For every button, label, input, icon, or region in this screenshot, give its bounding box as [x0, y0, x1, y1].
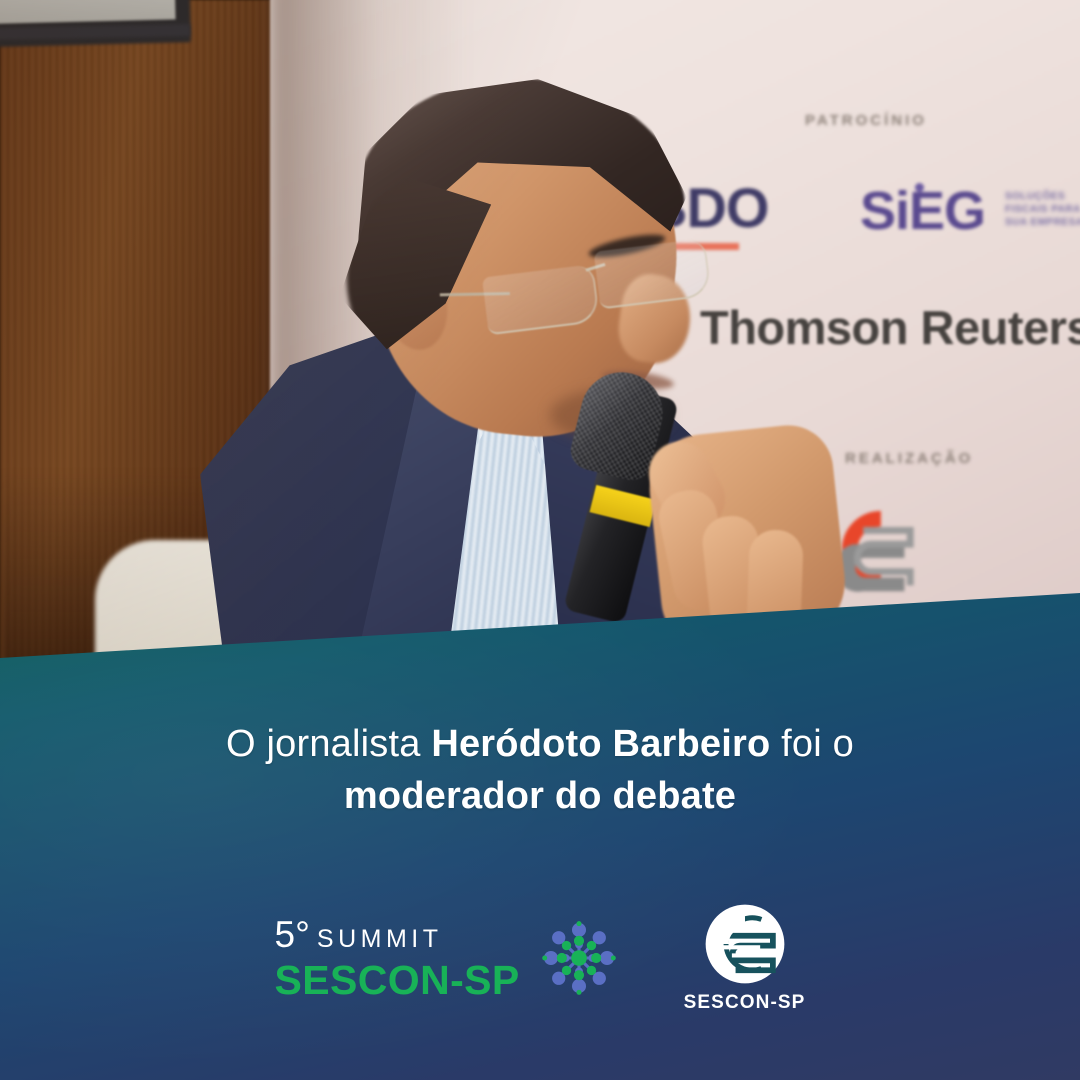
speaker-figure — [150, 60, 830, 680]
sieg-tagline: SOLUÇÕES FISCAIS PARA SUA EMPRESA — [1005, 190, 1080, 229]
summit-ordinal: 5° — [275, 916, 310, 953]
caption-line-1: O jornalista Heródoto Barbeiro foi o — [0, 718, 1080, 770]
summit-word: SUMMIT — [317, 927, 443, 952]
glasses-lens-left — [482, 264, 600, 335]
summit-event-logo[interactable]: 5° SUMMIT SESCON-SP — [275, 916, 622, 1001]
summit-org-name: SESCON-SP — [275, 960, 520, 1001]
summit-line-1: 5° SUMMIT — [275, 916, 443, 953]
sescon-s-monogram-icon — [704, 903, 786, 985]
molecule-network-icon — [536, 919, 622, 997]
sescon-sp-logo[interactable]: SESCON-SP — [684, 903, 806, 1014]
summit-wordmark: 5° SUMMIT SESCON-SP — [275, 916, 520, 1001]
sescon-sp-label: SESCON-SP — [684, 992, 806, 1014]
logo-lockup-row: 5° SUMMIT SESCON-SP — [0, 898, 1080, 1018]
caption-suffix: foi o — [770, 723, 854, 765]
caption-block: O jornalista Heródoto Barbeiro foi o mod… — [0, 718, 1080, 822]
sieg-dot-icon — [915, 183, 924, 192]
sponsor-logo-sieg: SiEG — [860, 184, 985, 238]
caption-role: moderador do debate — [344, 775, 736, 817]
caption-line-2: moderador do debate — [0, 770, 1080, 822]
sieg-wordmark: SiEG — [860, 184, 985, 238]
caption-prefix: O jornalista — [226, 723, 431, 765]
realizacao-label: REALIZAÇÃO — [845, 450, 973, 467]
caption-speaker-name: Heródoto Barbeiro — [431, 723, 770, 765]
glasses-lens-right — [594, 238, 712, 309]
social-media-post-card: PATROCÍNIO BDO SiEG SOLUÇÕES FISCAIS PAR… — [0, 0, 1080, 1080]
